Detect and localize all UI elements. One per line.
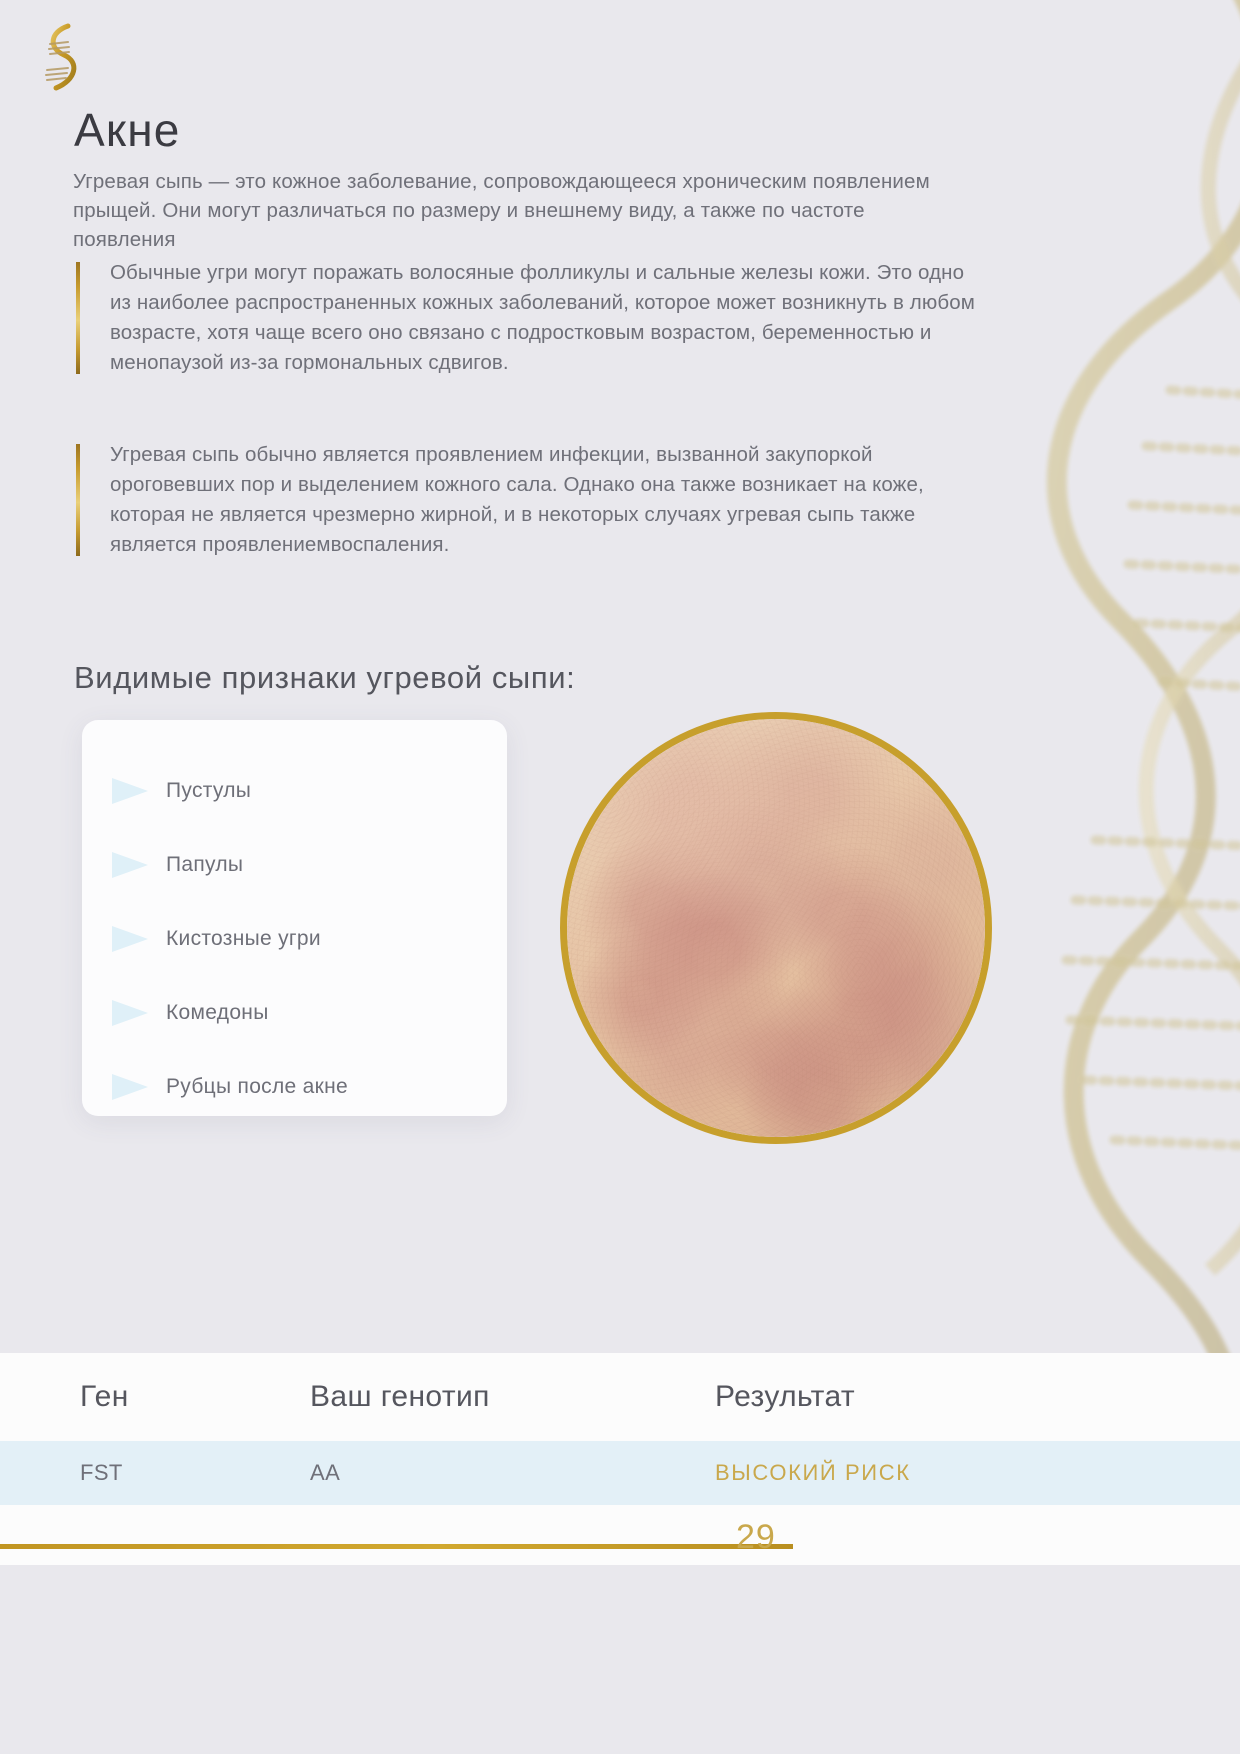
results-table: Ген Ваш генотип Результат FST AA ВЫСОКИЙ… — [0, 1353, 1240, 1565]
list-item-label: Рубцы после акне — [166, 1075, 348, 1099]
list-item-label: Пустулы — [166, 779, 251, 803]
list-item: Папулы — [82, 828, 507, 902]
dna-helix-icon — [38, 22, 84, 98]
column-header-gene: Ген — [0, 1380, 310, 1414]
cell-genotype: AA — [310, 1460, 715, 1486]
table-footer-band — [0, 1505, 1240, 1565]
column-header-result: Результат — [715, 1380, 1240, 1414]
table-header-row: Ген Ваш генотип Результат — [0, 1353, 1240, 1441]
column-header-genotype: Ваш генотип — [310, 1380, 715, 1414]
cell-gene: FST — [0, 1460, 310, 1486]
quote-block-1: Обычные угри могут поражать волосяные фо… — [76, 258, 990, 378]
footer-divider — [0, 1544, 793, 1549]
list-item-label: Папулы — [166, 853, 243, 877]
page-number: 29 — [736, 1518, 776, 1557]
list-item: Кистозные угри — [82, 902, 507, 976]
intro-paragraph: Угревая сыпь — это кожное заболевание, с… — [73, 167, 963, 254]
list-item: Комедоны — [82, 976, 507, 1050]
triangle-right-icon — [110, 998, 150, 1028]
page-root: Акне Угревая сыпь — это кожное заболеван… — [0, 0, 1240, 1754]
table-row: FST AA ВЫСОКИЙ РИСК — [0, 1441, 1240, 1505]
acne-skin-photo — [560, 712, 992, 1144]
triangle-right-icon — [110, 776, 150, 806]
list-item-label: Комедоны — [166, 1001, 269, 1025]
triangle-right-icon — [110, 1072, 150, 1102]
visible-signs-list: Пустулы Папулы Кистозные угри Комедоны — [82, 720, 507, 1124]
list-item: Рубцы после акне — [82, 1050, 507, 1124]
list-item: Пустулы — [82, 754, 507, 828]
features-heading: Видимые признаки угревой сыпи: — [74, 660, 575, 696]
visible-signs-card: Пустулы Папулы Кистозные угри Комедоны — [82, 720, 507, 1116]
list-item-label: Кистозные угри — [166, 927, 321, 951]
quote-block-2: Угревая сыпь обычно является проявлением… — [76, 440, 990, 560]
skin-grain-overlay — [567, 719, 985, 1137]
triangle-right-icon — [110, 924, 150, 954]
status-badge: ВЫСОКИЙ РИСК — [715, 1460, 1240, 1486]
triangle-right-icon — [110, 850, 150, 880]
page-title: Акне — [74, 107, 181, 153]
